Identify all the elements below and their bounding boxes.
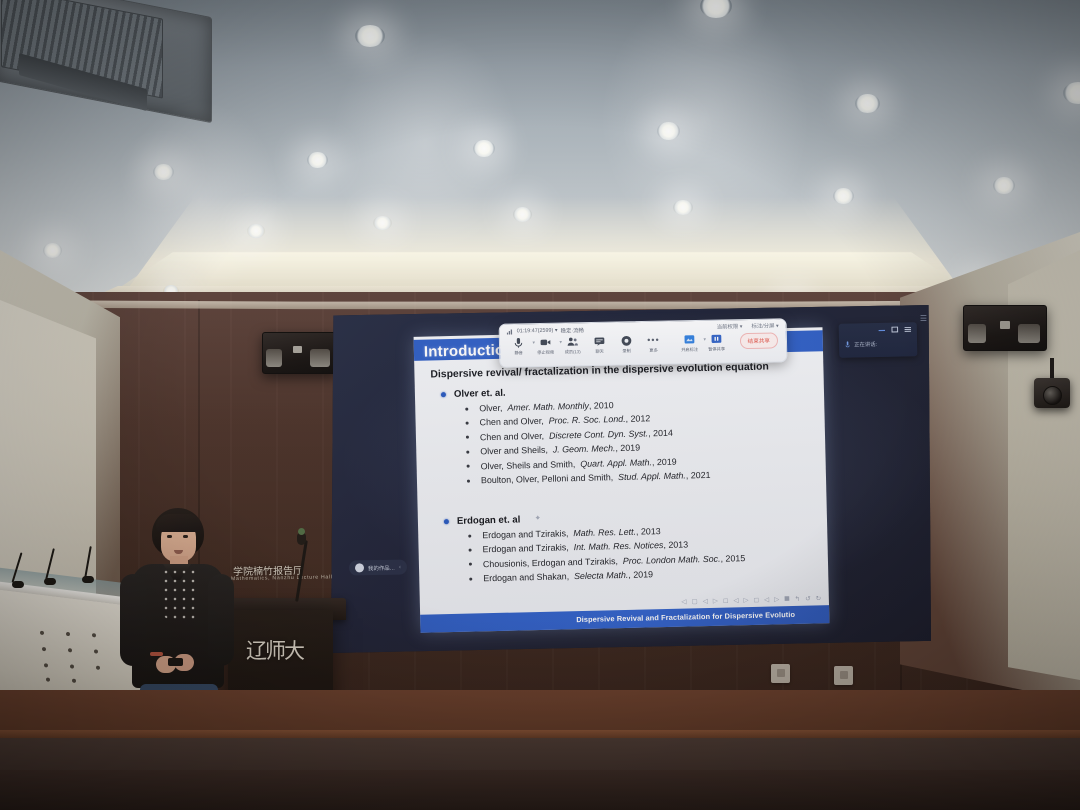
toolbar-record-label: 录制 bbox=[614, 348, 639, 354]
reference-group: Erdogan et. al ⌖ Erdogan and Tzirakis, M… bbox=[444, 507, 826, 588]
toolbar-chat-button[interactable]: 聊天 bbox=[586, 335, 613, 356]
ref-year: 2012 bbox=[630, 414, 650, 424]
presenter-fringe bbox=[156, 514, 202, 532]
presenter-right-arm bbox=[208, 574, 234, 666]
record-icon bbox=[620, 334, 633, 347]
presenter-clicker bbox=[168, 658, 183, 666]
desk-microphone bbox=[12, 581, 24, 588]
ceiling-downlight bbox=[355, 25, 385, 47]
ref-journal: Proc. London Math. Soc. bbox=[623, 553, 721, 565]
group-label-text: Erdogan et. al bbox=[457, 514, 521, 526]
ceiling-downlight bbox=[247, 224, 265, 238]
meeting-status-right[interactable]: 当前权限 ▾ 标注/分屏 ▾ bbox=[717, 321, 779, 330]
beamer-navigation-icons[interactable]: ◁ ▢ ◁ ▷ ◻ ◁ ▷ ◻ ◁ ▷ ⯀ ↰ ↺ ↻ bbox=[681, 594, 823, 606]
wall-socket bbox=[771, 664, 790, 683]
bullet-icon bbox=[468, 534, 471, 537]
bullet-icon bbox=[466, 422, 469, 425]
toolbar-participants-button[interactable]: 成员(13) bbox=[559, 335, 586, 356]
speaking-label: 正在讲话: bbox=[854, 340, 877, 348]
podium-logo: 辽师大 bbox=[246, 640, 308, 694]
ref-year: 2019 bbox=[633, 569, 653, 579]
toolbar-video-button[interactable]: 停止视频 ▾ bbox=[532, 336, 559, 357]
ref-year: 2014 bbox=[653, 428, 673, 438]
ref-journal: Proc. R. Soc. Lond. bbox=[549, 414, 626, 426]
layout-menu-icon[interactable]: ☰ bbox=[920, 314, 927, 323]
ref-authors: Olver, Sheils and Smith, bbox=[481, 459, 576, 471]
ref-authors: Erdogan and Tzirakis, bbox=[482, 543, 568, 555]
reference-group: Olver et. al. Olver, Amer. Math. Monthly… bbox=[441, 380, 823, 490]
ceiling-downlight bbox=[373, 216, 392, 230]
ref-authors: Olver, bbox=[479, 403, 502, 414]
ref-journal: Discrete Cont. Dyn. Syst. bbox=[549, 428, 648, 440]
meeting-toolbar-items: 静音 ▾ 停止视频 ▾ 成员(13) 聊天 录制 bbox=[505, 332, 730, 356]
ref-journal: J. Geom. Mech. bbox=[553, 443, 616, 454]
ref-year: 2019 bbox=[657, 456, 677, 466]
ref-year: 2013 bbox=[641, 526, 661, 536]
ref-year: 2010 bbox=[594, 400, 614, 410]
toolbar-record-button[interactable]: 录制 bbox=[613, 334, 640, 355]
ref-journal: Selecta Math. bbox=[574, 570, 628, 581]
meeting-toolbar[interactable]: 01:19:47(2599) ▾ 稳定·流畅 当前权限 ▾ 标注/分屏 ▾ 静音… bbox=[499, 318, 788, 368]
meeting-quality: 稳定·流畅 bbox=[560, 326, 584, 334]
toolbar-annotate-label: 开启标注 bbox=[677, 347, 702, 353]
annotation-selector[interactable]: 标注/分屏 ▾ bbox=[751, 321, 778, 330]
ceiling-downlight bbox=[700, 0, 732, 18]
ref-year: 2019 bbox=[620, 443, 640, 453]
ref-journal: Stud. Appl. Math. bbox=[618, 470, 686, 482]
avatar-icon bbox=[355, 563, 364, 572]
bullet-icon bbox=[444, 519, 449, 524]
ceiling-downlight bbox=[513, 207, 532, 222]
ceiling-downlight bbox=[855, 94, 880, 113]
toolbar-more-button[interactable]: ••• 更多 bbox=[640, 334, 667, 355]
wall-socket bbox=[834, 666, 853, 685]
ref-authors: Chousionis, Erdogan and Tzirakis, bbox=[483, 556, 618, 569]
ceiling-downlight bbox=[657, 122, 680, 140]
ceiling-downlight bbox=[43, 243, 62, 258]
camera-icon bbox=[539, 336, 552, 349]
ref-authors: Olver and Sheils, bbox=[480, 445, 548, 457]
toolbar-video-label: 停止视频 bbox=[533, 350, 558, 356]
toolbar-mute-label: 静音 bbox=[506, 350, 531, 356]
toolbar-pause-share-label: 暂停共享 bbox=[704, 347, 729, 353]
bullet-icon bbox=[467, 465, 470, 468]
toolbar-pause-share-button[interactable]: 暂停共享 bbox=[703, 332, 730, 353]
ref-journal: Int. Math. Res. Notices bbox=[574, 540, 664, 552]
wall-speaker-right bbox=[963, 305, 1047, 351]
group-label-text: Olver et. al. bbox=[454, 388, 506, 400]
collapse-arrow-icon[interactable]: ‹ bbox=[399, 564, 401, 570]
bullet-icon bbox=[466, 450, 469, 453]
ref-authors: Erdogan and Tzirakis, bbox=[482, 528, 568, 540]
ref-year: 2015 bbox=[725, 553, 745, 563]
podium-microphone-light bbox=[298, 528, 305, 535]
ceiling-downlight bbox=[1063, 82, 1080, 104]
pill-label: 我的作品… bbox=[368, 563, 395, 572]
air-conditioner-unit bbox=[0, 0, 212, 123]
ref-journal: Amer. Math. Monthly bbox=[507, 401, 589, 413]
cursor-marker-icon: ⌖ bbox=[536, 515, 540, 523]
ref-authors: Chen and Olver, bbox=[479, 416, 543, 428]
presentation-slide: Introduction Dispersive revival/ fractal… bbox=[414, 327, 830, 633]
bullet-icon bbox=[469, 577, 472, 580]
ceiling-downlight bbox=[833, 188, 854, 204]
minimize-icon[interactable] bbox=[878, 326, 886, 334]
slide-footer-text: Dispersive Revival and Fractalization fo… bbox=[576, 610, 795, 624]
signal-icon bbox=[507, 328, 514, 334]
room-camera bbox=[1034, 378, 1070, 408]
toolbar-more-label: 更多 bbox=[641, 348, 666, 354]
toolbar-mute-button[interactable]: 静音 ▾ bbox=[505, 336, 532, 357]
permission-selector[interactable]: 当前权限 ▾ bbox=[717, 322, 743, 330]
toolbar-annotate-button[interactable]: 开启标注 ▾ bbox=[676, 333, 703, 354]
ceiling-downlight bbox=[307, 152, 328, 168]
end-share-button[interactable]: 结束共享 bbox=[739, 332, 778, 349]
menu-icon[interactable] bbox=[904, 325, 912, 333]
ceiling-downlight bbox=[153, 164, 174, 180]
ceiling bbox=[0, 0, 1080, 300]
bullet-icon bbox=[469, 549, 472, 552]
participants-icon bbox=[566, 335, 579, 348]
annotate-icon bbox=[683, 333, 696, 346]
bullet-icon bbox=[441, 392, 446, 397]
wall-speaker-left bbox=[262, 332, 338, 374]
ceiling-downlight bbox=[473, 140, 495, 157]
ref-year: 2013 bbox=[668, 540, 688, 550]
projection-screen: Introduction Dispersive revival/ fractal… bbox=[331, 305, 931, 653]
ref-authors: Boulton, Olver, Pelloni and Smith, bbox=[481, 472, 613, 485]
ref-authors: Chen and Olver, bbox=[480, 431, 544, 443]
lecture-hall-photo: Introduction Dispersive revival/ fractal… bbox=[0, 0, 1080, 810]
chat-icon bbox=[593, 335, 606, 348]
bullet-icon bbox=[465, 407, 468, 410]
floor bbox=[0, 770, 1080, 810]
microphone-icon bbox=[845, 341, 850, 349]
ref-authors: Erdogan and Shakan, bbox=[483, 571, 569, 583]
speaking-indicator: 正在讲话: bbox=[845, 340, 877, 349]
toolbar-chat-label: 聊天 bbox=[587, 349, 612, 355]
meeting-status-left: 01:19:47(2599) ▾ 稳定·流畅 bbox=[507, 326, 584, 335]
ref-year: 2021 bbox=[691, 470, 711, 480]
ref-journal: Quart. Appl. Math. bbox=[580, 457, 652, 469]
bullet-icon bbox=[466, 436, 469, 439]
presenter-left-arm bbox=[120, 574, 146, 666]
window-controls[interactable] bbox=[878, 325, 912, 334]
ref-journal: Math. Res. Lett. bbox=[573, 527, 636, 538]
toolbar-participants-label: 成员(13) bbox=[560, 349, 585, 355]
meeting-timer: 01:19:47(2599) ▾ bbox=[517, 328, 558, 335]
ceiling-downlight bbox=[673, 200, 693, 215]
more-icon: ••• bbox=[647, 334, 660, 347]
maximize-icon[interactable] bbox=[891, 326, 899, 334]
presenter-shirt-pattern bbox=[162, 568, 198, 620]
camera-lens-icon bbox=[1043, 386, 1062, 405]
meeting-mini-window[interactable]: 正在讲话: bbox=[839, 322, 918, 357]
bullet-icon bbox=[467, 479, 470, 482]
microphone-icon bbox=[512, 336, 525, 349]
bullet-icon bbox=[469, 563, 472, 566]
pause-icon bbox=[710, 332, 723, 345]
meeting-side-pill[interactable]: 我的作品… ‹ bbox=[349, 559, 407, 575]
ceiling-downlight bbox=[993, 177, 1015, 194]
